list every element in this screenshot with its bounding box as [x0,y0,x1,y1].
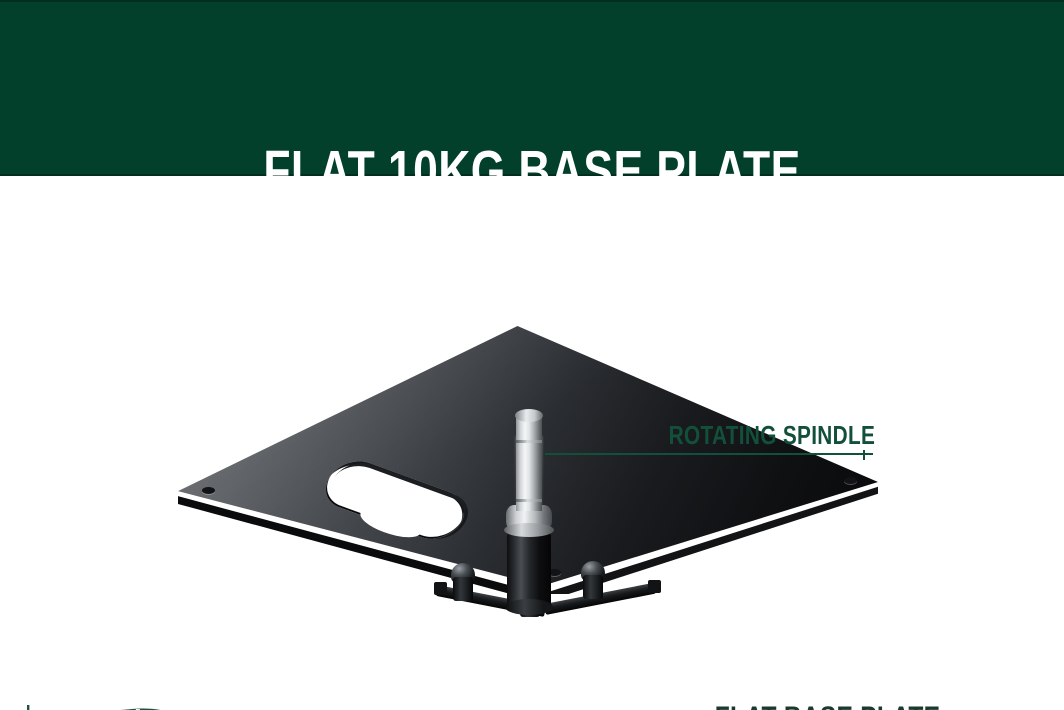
rotating-spindle-label: ROTATING SPINDLE [668,422,875,448]
dome-cap-bolt-left [451,563,475,601]
corner-hole-left [202,487,215,494]
spindle-ring-lower [516,499,542,502]
flat-base-plate-info: FLAT BASE PLATE SUITABLE TO USE WITH THE… [600,701,1055,710]
rotating-spindle-annotation: ROTATING SPINDLE [545,422,875,460]
dome-cap-bolt-right [581,561,605,599]
rotating-spindle-leader-tick [863,450,865,460]
spindle-base-foot [505,599,553,615]
spindle-chrome-shaft [516,413,542,511]
info-heading-wrap: FLAT BASE PLATE [600,701,1055,710]
rotating-spindle-leader-line [545,453,873,455]
brand-logo: FLAGS IRELAND PROSPECT DESIGN [8,701,188,710]
spindle-top-cap [515,409,543,422]
bracket-end-right [648,580,661,593]
header-banner: FLAT 10KG BASE PLATE WITH ROTATING SPIND… [0,0,1064,176]
flag-bearer-svg [12,701,178,710]
product-photo-stage: ROTATING SPINDLE FLAT BASE PLATE SUITABL… [0,176,1064,710]
info-heading: FLAT BASE PLATE [715,701,941,710]
bolt-body [583,575,603,599]
flag-bearer-icon [12,701,178,710]
spindle-black-base [507,533,551,609]
bracket-end-left [434,582,447,595]
spindle-collar-lip [504,523,554,537]
product-poster: FLAT 10KG BASE PLATE WITH ROTATING SPIND… [0,0,1064,710]
spindle-ring-upper [516,440,542,443]
corner-hole-right [844,477,857,484]
bolt-body [453,577,473,601]
